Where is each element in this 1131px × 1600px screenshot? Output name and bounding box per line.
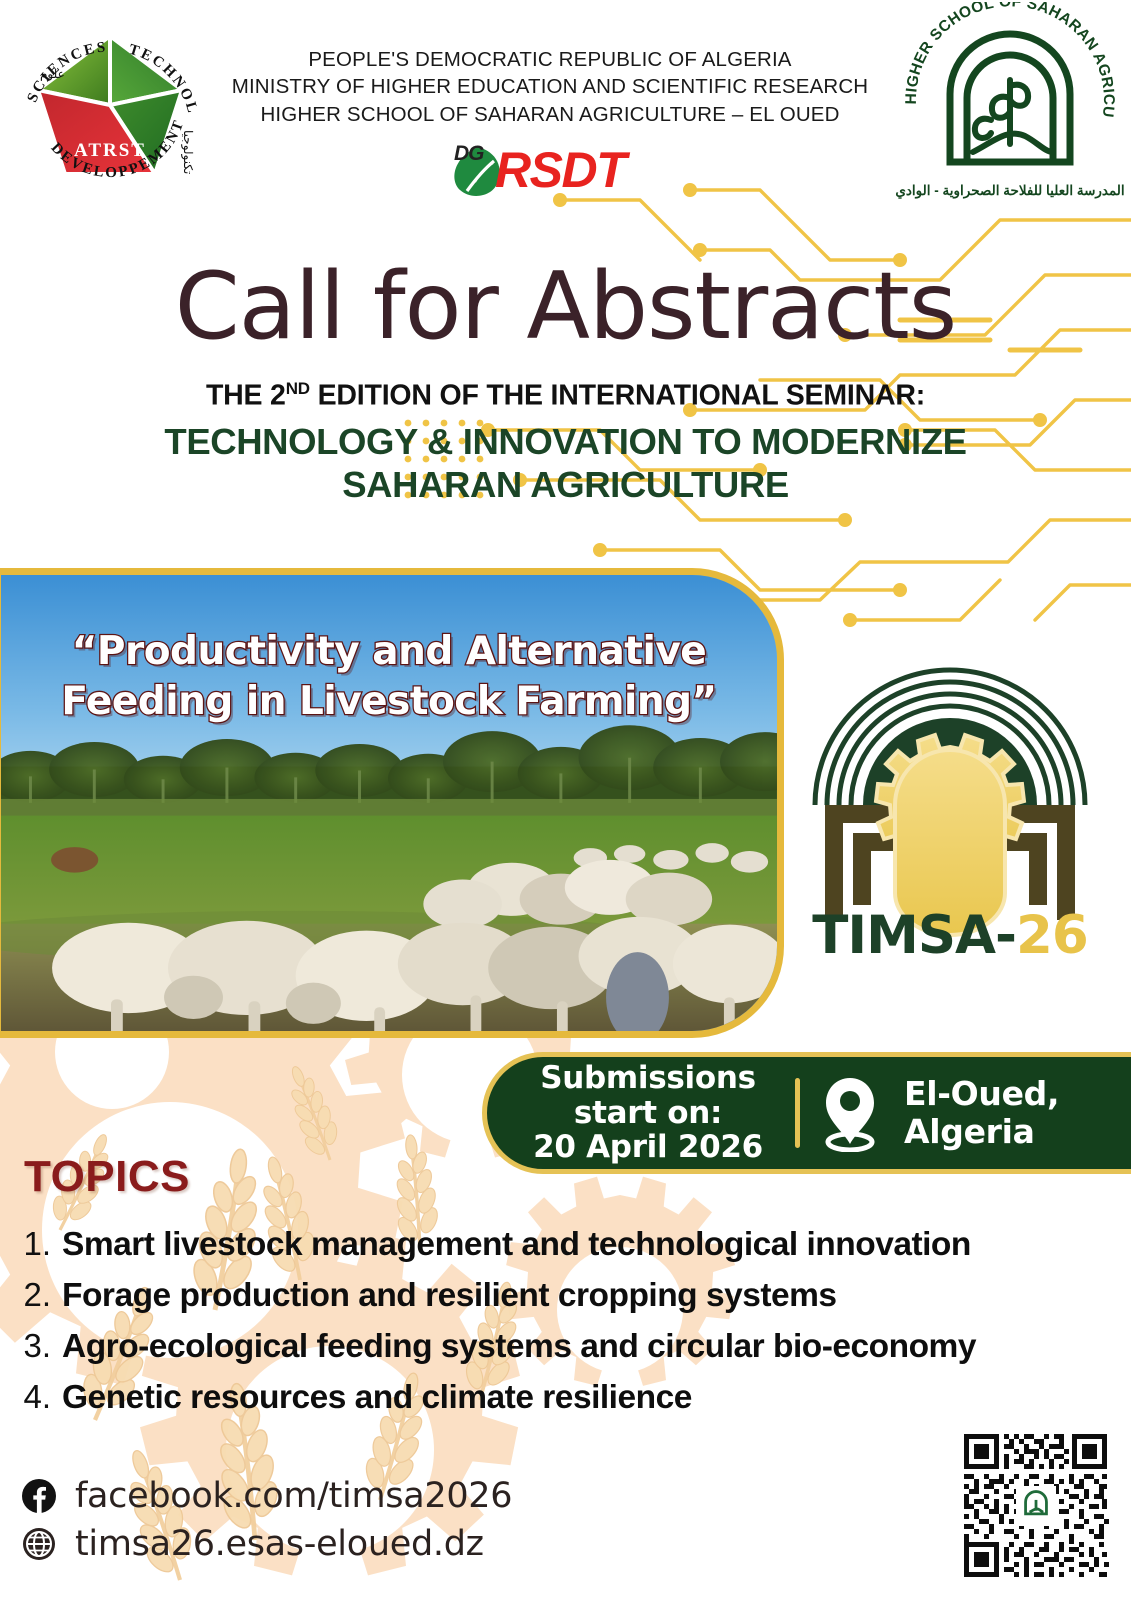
topic-text: Genetic resources and climate resilience [62,1380,692,1417]
submissions-location-banner: Submissions start on: 20 April 2026 El-O… [482,1052,1131,1174]
header-line-2: MINISTRY OF HIGHER EDUCATION AND SCIENTI… [230,73,870,100]
topic-number: 1. [18,1225,62,1263]
topic-text: Smart livestock management and technolog… [62,1227,971,1264]
seminar-theme-title: TECHNOLOGY & INNOVATION TO MODERNIZE SAH… [0,421,1131,506]
seminar-edition-line: THE 2ND EDITION OF THE INTERNATIONAL SEM… [0,379,1131,412]
timsa-wordmark: TIMSA-26 [795,905,1105,966]
submissions-block: Submissions start on: 20 April 2026 [487,1061,787,1165]
contact-block: facebook.com/timsa2026 timsa26.esas-elou… [22,1476,512,1572]
atrst-center-label: ATRST [74,140,146,161]
location-country: Algeria [904,1113,1059,1151]
svg-text:HIGHER SCHOOL OF SAHARAN AGRIC: HIGHER SCHOOL OF SAHARAN AGRICULTURE - E… [895,2,1117,119]
title-block: Call for Abstracts THE 2ND EDITION OF TH… [0,260,1131,506]
poster-header: ATRST SCIENCES TECHNOLOGIE DEVELOPPEMENT… [0,0,1131,215]
timsa-year: 26 [1016,905,1088,966]
edition-pre: THE 2 [206,380,286,412]
submissions-date: 20 April 2026 [509,1130,787,1165]
atrst-arabic-left: علوم [40,67,65,81]
topics-list: 1. Smart livestock management and techno… [18,1225,1078,1428]
rsdt-wordmark: RSDT [495,141,625,199]
topic-number: 4. [18,1378,62,1416]
submissions-label-line-2: start on: [509,1096,787,1131]
facebook-contact-row[interactable]: facebook.com/timsa2026 [22,1476,512,1516]
header-line-3: HIGHER SCHOOL OF SAHARAN AGRICULTURE – E… [230,101,870,128]
seminar-theme-line-2: SAHARAN AGRICULTURE [0,464,1131,506]
esas-eloued-logo: HIGHER SCHOOL OF SAHARAN AGRICULTURE - E… [895,2,1125,207]
edition-ordinal: ND [286,379,310,398]
rsdt-prefix: DG [454,142,484,166]
topic-number: 3. [18,1327,62,1365]
facebook-icon[interactable] [22,1479,56,1513]
esas-ring-text: HIGHER SCHOOL OF SAHARAN AGRICULTURE - E… [895,2,1117,119]
location-pin-icon [818,1074,882,1152]
submissions-label-line-1: Submissions [509,1061,787,1096]
quote-line-2: Feeding in Livestock Farming” [29,677,749,727]
list-item: 1. Smart livestock management and techno… [18,1225,1078,1264]
hero-photo-panel: “Productivity and Alternative Feeding in… [0,568,784,1038]
list-item: 2. Forage production and resilient cropp… [18,1276,1078,1315]
location-block: El-Oued, Algeria [904,1075,1059,1151]
atrst-logo: ATRST SCIENCES TECHNOLOGIE DEVELOPPEMENT… [8,8,213,208]
topic-number: 2. [18,1276,62,1314]
header-line-1: PEOPLE'S DEMOCRATIC REPUBLIC OF ALGERIA [230,46,870,73]
list-item: 3. Agro-ecological feeding systems and c… [18,1327,1078,1366]
institution-header-text: PEOPLE'S DEMOCRATIC REPUBLIC OF ALGERIA … [230,46,870,128]
atrst-arabic-right: تكنولوجيا [181,130,195,174]
location-city: El-Oued, [904,1075,1059,1113]
list-item: 4. Genetic resources and climate resilie… [18,1378,1078,1417]
banner-divider [795,1078,800,1148]
topic-text: Agro-ecological feeding systems and circ… [62,1329,976,1366]
website-contact-row[interactable]: timsa26.esas-eloued.dz [22,1524,512,1564]
quote-line-1: “Productivity and Alternative [29,627,749,677]
website-url[interactable]: timsa26.esas-eloued.dz [75,1524,484,1564]
globe-icon[interactable] [22,1527,56,1561]
facebook-url[interactable]: facebook.com/timsa2026 [75,1476,512,1516]
page-title: Call for Abstracts [0,260,1131,353]
topic-text: Forage production and resilient cropping… [62,1278,837,1315]
topics-heading: TOPICS [24,1152,190,1202]
qr-code[interactable] [958,1428,1113,1583]
timsa-name: TIMSA- [812,905,1016,966]
esas-arabic-text: المدرسة العليا للفلاحة الصحراوية - الواد… [895,183,1124,199]
dgrsdt-logo: DG RSDT [449,140,649,202]
seminar-quote: “Productivity and Alternative Feeding in… [1,627,777,727]
seminar-theme-line-1: TECHNOLOGY & INNOVATION TO MODERNIZE [0,421,1131,463]
edition-post: EDITION OF THE INTERNATIONAL SEMINAR: [310,380,925,412]
